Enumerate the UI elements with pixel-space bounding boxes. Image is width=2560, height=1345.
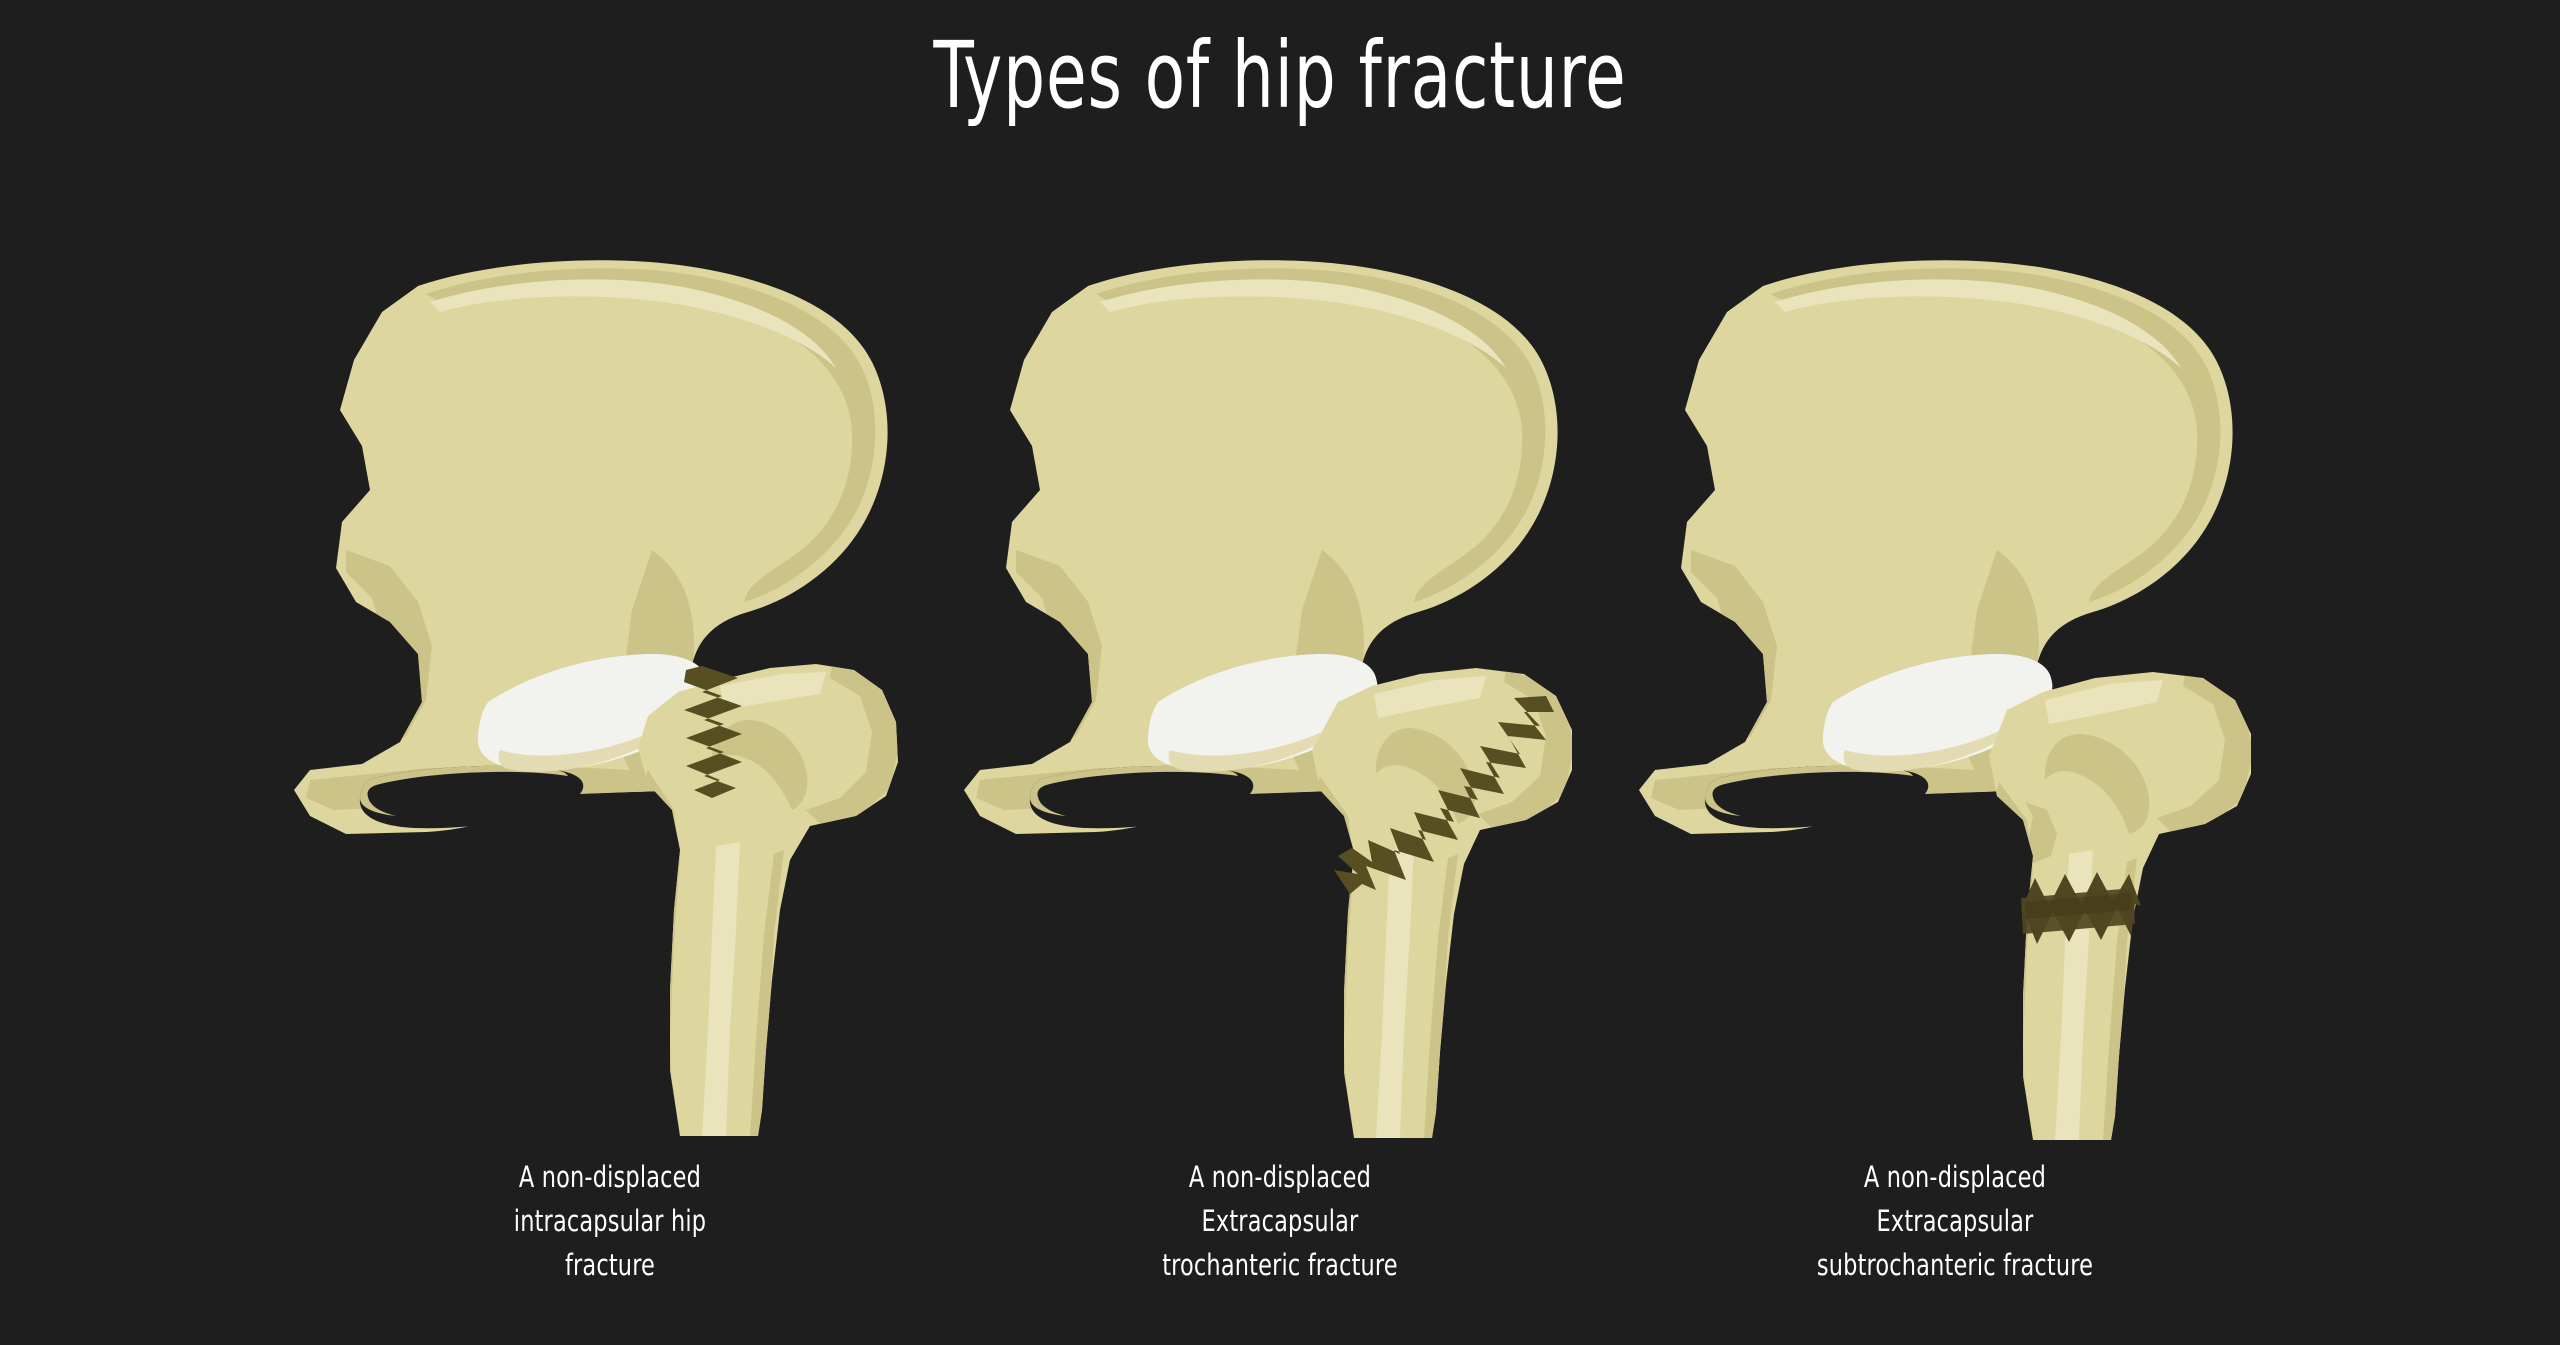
caption-trochanteric: A non-displaced Extracapsular trochanter… bbox=[1056, 1155, 1503, 1287]
figure-intracapsular bbox=[250, 250, 970, 1150]
femur-bone bbox=[638, 664, 900, 1136]
caption-subtrochanteric: A non-displaced Extracapsular subtrochan… bbox=[1731, 1155, 2178, 1287]
caption-line-1: A non-displaced bbox=[1731, 1155, 2178, 1199]
caption-line-2: Extracapsular bbox=[1056, 1199, 1503, 1243]
caption-line-3: subtrochanteric fracture bbox=[1731, 1243, 2178, 1287]
figure-subtrochanteric bbox=[1595, 250, 2315, 1150]
infographic-root: Types of hip fracture bbox=[0, 0, 2560, 1345]
caption-intracapsular: A non-displaced intracapsular hip fractu… bbox=[386, 1155, 833, 1287]
figure-trochanteric bbox=[920, 250, 1640, 1150]
caption-line-1: A non-displaced bbox=[1056, 1155, 1503, 1199]
caption-line-3: trochanteric fracture bbox=[1056, 1243, 1503, 1287]
caption-line-2: Extracapsular bbox=[1731, 1199, 2178, 1243]
caption-line-2: intracapsular hip bbox=[386, 1199, 833, 1243]
figure-row bbox=[0, 0, 2560, 1345]
caption-line-3: fracture bbox=[386, 1243, 833, 1287]
caption-line-1: A non-displaced bbox=[386, 1155, 833, 1199]
